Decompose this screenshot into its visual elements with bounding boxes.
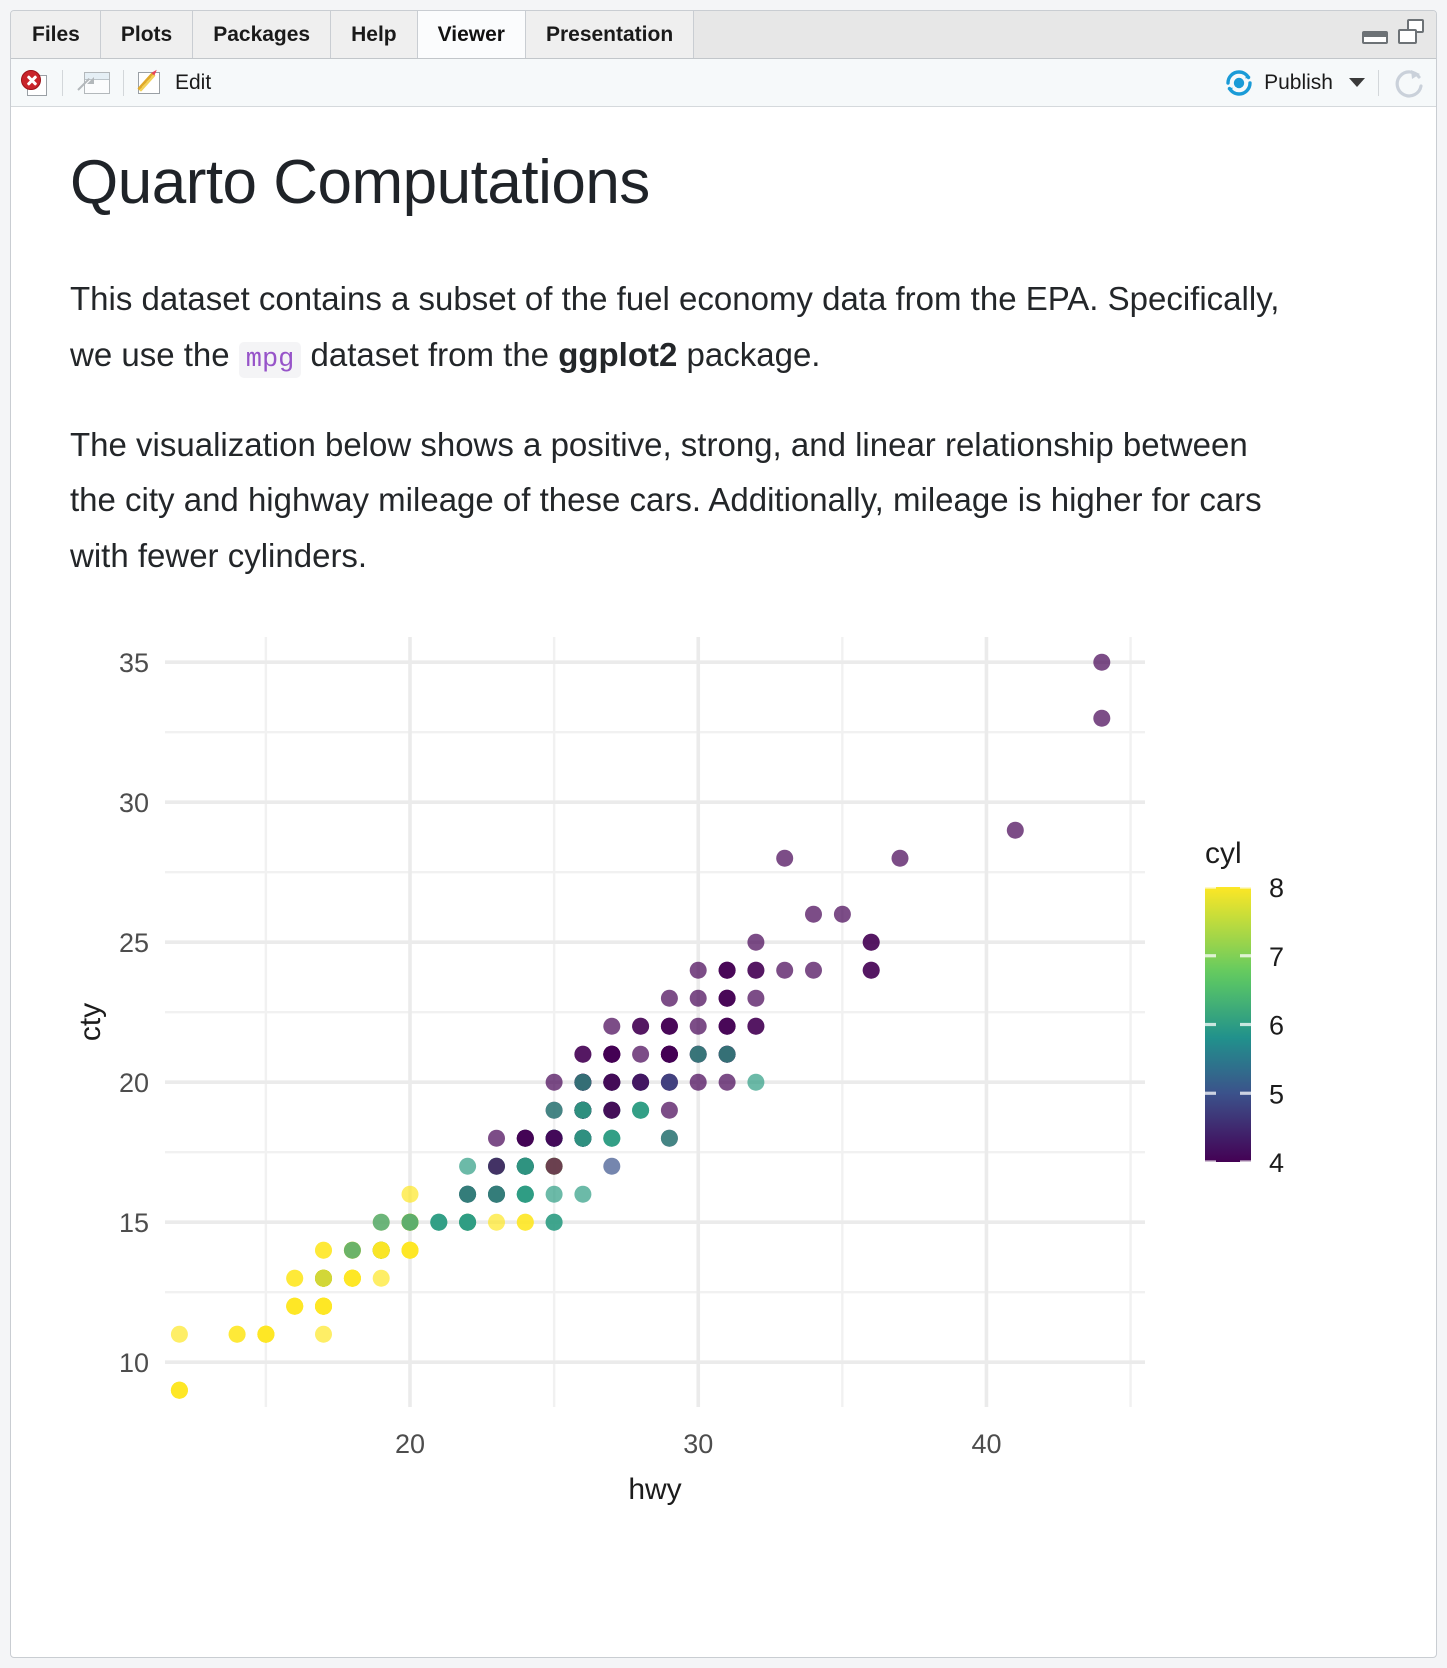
edit-button-label: Edit <box>175 71 211 95</box>
data-point <box>171 1382 188 1399</box>
toolbar-separator <box>62 70 63 96</box>
data-point <box>603 1158 620 1175</box>
data-point <box>373 1214 390 1231</box>
data-point <box>690 1074 707 1091</box>
window-controls <box>1362 19 1424 44</box>
paragraph-dataset-description: This dataset contains a subset of the fu… <box>70 271 1300 383</box>
publish-button[interactable]: Publish <box>1222 70 1333 96</box>
data-point <box>805 906 822 923</box>
data-point <box>459 1158 476 1175</box>
viewer-pane: Files Plots Packages Help Viewer Present… <box>10 10 1437 1658</box>
data-point <box>488 1130 505 1147</box>
tab-label: Files <box>32 23 80 47</box>
data-point <box>315 1270 332 1287</box>
data-point <box>488 1214 505 1231</box>
data-point <box>574 1102 591 1119</box>
show-in-new-window-button[interactable] <box>76 69 110 97</box>
minimize-pane-icon[interactable] <box>1362 31 1388 44</box>
y-axis-title: cty <box>74 1003 107 1041</box>
legend-tick-label: 6 <box>1269 1011 1284 1041</box>
x-axis-tick-label: 20 <box>395 1429 425 1459</box>
paragraph-visualization-description: The visualization below shows a positive… <box>70 417 1300 583</box>
x-axis-title: hwy <box>628 1473 681 1506</box>
data-point <box>286 1298 303 1315</box>
data-point <box>603 1130 620 1147</box>
tab-files[interactable]: Files <box>11 11 101 58</box>
data-point <box>402 1186 419 1203</box>
data-point <box>517 1130 534 1147</box>
data-point <box>574 1130 591 1147</box>
data-point <box>747 1018 764 1035</box>
data-point <box>546 1130 563 1147</box>
clear-viewer-button[interactable] <box>21 69 49 97</box>
clear-viewer-icon <box>21 69 49 97</box>
data-point <box>603 1018 620 1035</box>
data-point <box>257 1326 274 1343</box>
data-point <box>373 1242 390 1259</box>
tab-plots[interactable]: Plots <box>101 11 193 58</box>
data-point <box>373 1270 390 1287</box>
data-point <box>632 1046 649 1063</box>
tab-label: Presentation <box>546 23 673 47</box>
edit-icon <box>137 69 167 97</box>
tab-label: Packages <box>213 23 310 47</box>
tab-viewer[interactable]: Viewer <box>418 11 526 58</box>
data-point <box>1093 710 1110 727</box>
data-point <box>690 1046 707 1063</box>
data-point <box>517 1158 534 1175</box>
data-point <box>892 850 909 867</box>
data-point <box>1007 822 1024 839</box>
data-point <box>776 962 793 979</box>
data-point <box>661 1130 678 1147</box>
data-point <box>459 1186 476 1203</box>
data-point <box>402 1214 419 1231</box>
paragraph-text: package. <box>677 336 820 373</box>
data-point <box>603 1046 620 1063</box>
data-point <box>344 1242 361 1259</box>
toolbar-separator <box>123 70 124 96</box>
data-point <box>719 1074 736 1091</box>
x-axis-tick-label: 30 <box>683 1429 713 1459</box>
show-in-new-window-icon <box>76 69 110 97</box>
viewer-document: Quarto Computations This dataset contain… <box>12 108 1435 1656</box>
data-point <box>747 1074 764 1091</box>
tab-packages[interactable]: Packages <box>193 11 331 58</box>
plot-svg: 101520253035203040hwyctycyl87654 <box>70 617 1360 1517</box>
x-axis-tick-label: 40 <box>971 1429 1001 1459</box>
y-axis-tick-label: 10 <box>119 1348 149 1378</box>
data-point <box>719 990 736 1007</box>
data-point <box>315 1298 332 1315</box>
data-point <box>719 1046 736 1063</box>
tab-label: Help <box>351 23 397 47</box>
data-point <box>517 1214 534 1231</box>
legend-title: cyl <box>1205 837 1242 870</box>
data-point <box>603 1102 620 1119</box>
data-point <box>546 1214 563 1231</box>
data-point <box>632 1018 649 1035</box>
tab-help[interactable]: Help <box>331 11 418 58</box>
scatter-plot: 101520253035203040hwyctycyl87654 <box>70 617 1360 1517</box>
y-axis-tick-label: 25 <box>119 928 149 958</box>
data-point <box>661 1102 678 1119</box>
toolbar-right-group: Publish <box>1222 59 1426 106</box>
data-point <box>661 990 678 1007</box>
data-point <box>690 990 707 1007</box>
data-point <box>834 906 851 923</box>
data-point <box>805 962 822 979</box>
page-title: Quarto Computations <box>70 150 1377 215</box>
tab-presentation[interactable]: Presentation <box>526 11 694 58</box>
data-point <box>719 962 736 979</box>
data-point <box>286 1270 303 1287</box>
data-point <box>690 1018 707 1035</box>
data-point <box>776 850 793 867</box>
inline-code-mpg: mpg <box>239 342 302 378</box>
data-point <box>546 1074 563 1091</box>
data-point <box>719 1018 736 1035</box>
pane-tabbar: Files Plots Packages Help Viewer Present… <box>11 11 1436 59</box>
edit-button[interactable]: Edit <box>137 69 211 97</box>
data-point <box>603 1074 620 1091</box>
tab-label: Plots <box>121 23 172 47</box>
data-point <box>1093 654 1110 671</box>
toolbar-separator <box>1378 70 1379 96</box>
data-point <box>546 1102 563 1119</box>
y-axis-tick-label: 20 <box>119 1068 149 1098</box>
data-point <box>690 962 707 979</box>
data-point <box>546 1186 563 1203</box>
data-point <box>402 1242 419 1259</box>
data-point <box>574 1186 591 1203</box>
paragraph-text: dataset from the <box>301 336 558 373</box>
data-point <box>747 934 764 951</box>
data-point <box>488 1158 505 1175</box>
refresh-icon[interactable] <box>1392 66 1426 100</box>
legend-tick-label: 5 <box>1269 1079 1284 1109</box>
data-point <box>546 1158 563 1175</box>
y-axis-tick-label: 35 <box>119 648 149 678</box>
data-point <box>661 1018 678 1035</box>
data-point <box>430 1214 447 1231</box>
data-point <box>632 1102 649 1119</box>
data-point <box>488 1186 505 1203</box>
data-point <box>661 1074 678 1091</box>
publish-button-label: Publish <box>1264 71 1333 95</box>
data-point <box>315 1242 332 1259</box>
data-point <box>661 1046 678 1063</box>
publish-icon <box>1222 70 1256 96</box>
data-point <box>863 962 880 979</box>
chevron-down-icon[interactable] <box>1349 78 1365 87</box>
data-point <box>459 1214 476 1231</box>
data-point <box>747 990 764 1007</box>
tab-label: Viewer <box>438 23 505 47</box>
y-axis-tick-label: 15 <box>119 1208 149 1238</box>
legend-tick-label: 8 <box>1269 873 1284 903</box>
maximize-pane-icon[interactable] <box>1398 19 1424 44</box>
viewer-toolbar: Edit Publish <box>11 59 1436 107</box>
data-point <box>517 1186 534 1203</box>
data-point <box>229 1326 246 1343</box>
y-axis-tick-label: 30 <box>119 788 149 818</box>
legend-tick-label: 7 <box>1269 942 1284 972</box>
data-point <box>747 962 764 979</box>
data-point <box>171 1326 188 1343</box>
bold-ggplot2: ggplot2 <box>558 336 677 373</box>
data-point <box>574 1046 591 1063</box>
data-point <box>863 934 880 951</box>
legend-tick-label: 4 <box>1269 1148 1284 1178</box>
data-point <box>344 1270 361 1287</box>
data-point <box>315 1326 332 1343</box>
data-point <box>574 1074 591 1091</box>
data-point <box>632 1074 649 1091</box>
